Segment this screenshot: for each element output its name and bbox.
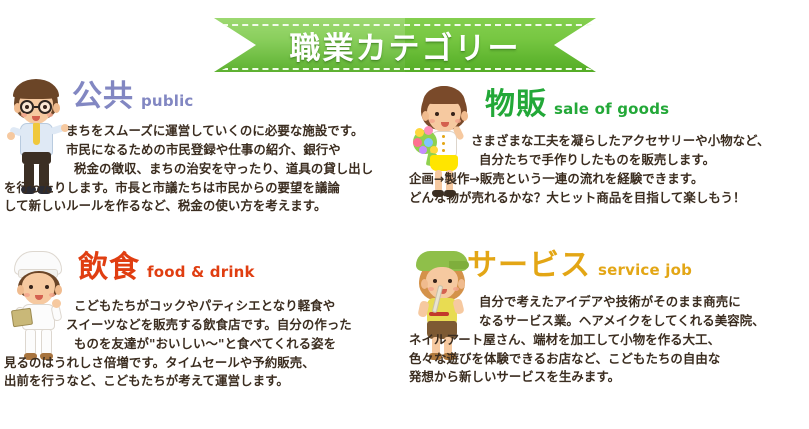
description-line: こどもたちがコックやパティシエとなり軽食や — [0, 297, 404, 316]
category-title-jp: 公共 — [72, 82, 134, 112]
description-line: して新しいルールを作るなど、税金の使い方を考えます。 — [0, 197, 404, 216]
category-grid: 公共 public まちをスムーズに運営していくのに必要な施設です。 市民になる… — [0, 78, 809, 429]
description-line: どんな物が売れるかな？大ヒット商品を目指して楽しもう！ — [405, 189, 809, 208]
category-title-jp: サービス — [467, 251, 591, 281]
category-card-service-job[interactable]: サービス service job 自分で考えたアイデアや技術がそのまま商売に な… — [405, 251, 809, 421]
category-card-public[interactable]: 公共 public まちをスムーズに運営していくのに必要な施設です。 市民になる… — [0, 78, 404, 248]
description-line: 自分で考えたアイデアや技術がそのまま商売に — [405, 293, 809, 312]
page-banner: 職業カテゴリー — [0, 14, 809, 76]
description-line: さまざまな工夫を凝らしたアクセサリーや小物など、 — [405, 132, 809, 151]
category-description-service-job: 自分で考えたアイデアや技術がそのまま商売に なるサービス業。ヘアメイクをしてくれ… — [405, 293, 809, 387]
category-title-en: public — [141, 94, 194, 112]
category-heading-food-and-drink: 飲食 food & drink — [78, 253, 255, 283]
category-title-en: food & drink — [147, 265, 255, 283]
category-card-sale-of-goods[interactable]: 物販 sale of goods さまざまな工夫を凝らしたアクセサリーや小物など… — [405, 84, 809, 254]
category-title-en: service job — [598, 263, 692, 281]
category-title-jp: 飲食 — [78, 253, 140, 283]
category-title-en: sale of goods — [554, 102, 669, 120]
category-heading-sale-of-goods: 物販 sale of goods — [485, 90, 669, 120]
description-line: 企画→製作→販売という一連の流れを経験できます。 — [405, 170, 809, 189]
description-line: 色々な遊びを体験できるお店など、こどもたちの自由な — [405, 350, 809, 369]
description-line: まちをスムーズに運営していくのに必要な施設です。 — [0, 122, 404, 141]
category-title-jp: 物販 — [485, 90, 547, 120]
description-line: 見るのはうれしさ倍増です。タイムセールや予約販売、 — [0, 354, 404, 373]
description-line: スイーツなどを販売する飲食店です。自分の作った — [0, 316, 404, 335]
description-line: を行ったりします。市長と市議たちは市民からの要望を議論 — [0, 179, 404, 198]
category-heading-public: 公共 public — [72, 82, 194, 112]
category-heading-service-job: サービス service job — [467, 251, 692, 281]
description-line: 発想から新しいサービスを生みます。 — [405, 368, 809, 387]
description-line: なるサービス業。ヘアメイクをしてくれる美容院、 — [405, 312, 809, 331]
banner-title: 職業カテゴリー — [214, 18, 596, 72]
description-line: 税金の徴収、まちの治安を守ったり、道具の貸し出し — [0, 160, 404, 179]
category-description-public: まちをスムーズに運営していくのに必要な施設です。 市民になるための市民登録や仕事… — [0, 122, 404, 216]
description-line: 市民になるための市民登録や仕事の紹介、銀行や — [0, 141, 404, 160]
description-line: 出前を行うなど、こどもたちが考えて運営します。 — [0, 372, 404, 391]
category-description-sale-of-goods: さまざまな工夫を凝らしたアクセサリーや小物など、 自分たちで手作りしたものを販売… — [405, 132, 809, 207]
description-line: 自分たちで手作りしたものを販売します。 — [405, 151, 809, 170]
category-description-food-and-drink: こどもたちがコックやパティシエとなり軽食や スイーツなどを販売する飲食店です。自… — [0, 297, 404, 391]
description-line: ネイルアート屋さん、端材を加工して小物を作る大工、 — [405, 331, 809, 350]
description-line: ものを友達が"おいしい～"と食べてくれる姿を — [0, 335, 404, 354]
category-card-food-and-drink[interactable]: 飲食 food & drink こどもたちがコックやパティシエとなり軽食や スイ… — [0, 251, 404, 421]
